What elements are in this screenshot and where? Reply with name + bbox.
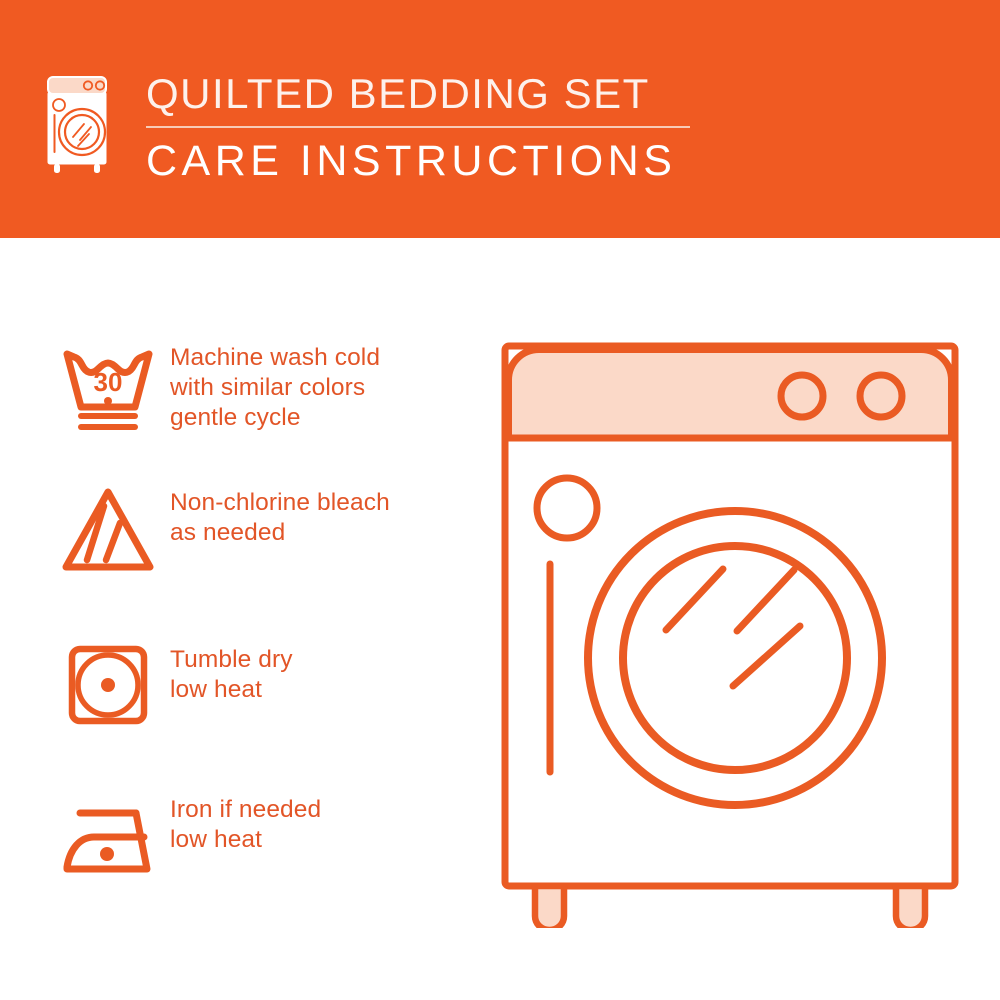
title-divider (146, 126, 690, 128)
front-load-washing-machine-illustration (495, 338, 965, 928)
care-text-line: as needed (170, 518, 476, 548)
page-subtitle: CARE INSTRUCTIONS (146, 136, 846, 186)
main-content: 30 Machine wash cold with similar colors… (0, 238, 1000, 1000)
care-instruction-row: Non-chlorine bleach as needed (46, 486, 476, 578)
care-text-line: low heat (170, 675, 476, 705)
tumble-dry-icon (46, 637, 170, 733)
care-text-line: Non-chlorine bleach (170, 488, 476, 518)
care-text-line: with similar colors (170, 373, 476, 403)
washer-leg (896, 886, 925, 928)
care-instruction-text: Iron if needed low heat (170, 793, 476, 855)
iron-icon (46, 791, 170, 887)
care-instruction-text: Machine wash cold with similar colors ge… (170, 341, 476, 433)
care-text-line: Machine wash cold (170, 343, 476, 373)
care-instruction-text: Non-chlorine bleach as needed (170, 486, 476, 548)
care-text-line: low heat (170, 825, 476, 855)
wash-temp-label: 30 (94, 367, 123, 397)
page-header: QUILTED BEDDING SET CARE INSTRUCTIONS (0, 0, 1000, 238)
page-title: QUILTED BEDDING SET (146, 70, 846, 118)
washer-leg (535, 886, 564, 928)
care-instruction-text: Tumble dry low heat (170, 643, 476, 705)
care-text-line: Tumble dry (170, 645, 476, 675)
washing-machine-icon (44, 72, 112, 176)
care-text-line: gentle cycle (170, 403, 476, 433)
care-text-line: Iron if needed (170, 795, 476, 825)
care-instruction-row: Tumble dry low heat (46, 643, 476, 733)
non-chlorine-bleach-triangle-icon (46, 482, 170, 578)
care-instruction-row: Iron if needed low heat (46, 793, 476, 887)
header-title-block: QUILTED BEDDING SET CARE INSTRUCTIONS (146, 70, 846, 186)
care-instruction-row: 30 Machine wash cold with similar colors… (46, 341, 476, 437)
machine-wash-tub-icon: 30 (46, 341, 170, 437)
